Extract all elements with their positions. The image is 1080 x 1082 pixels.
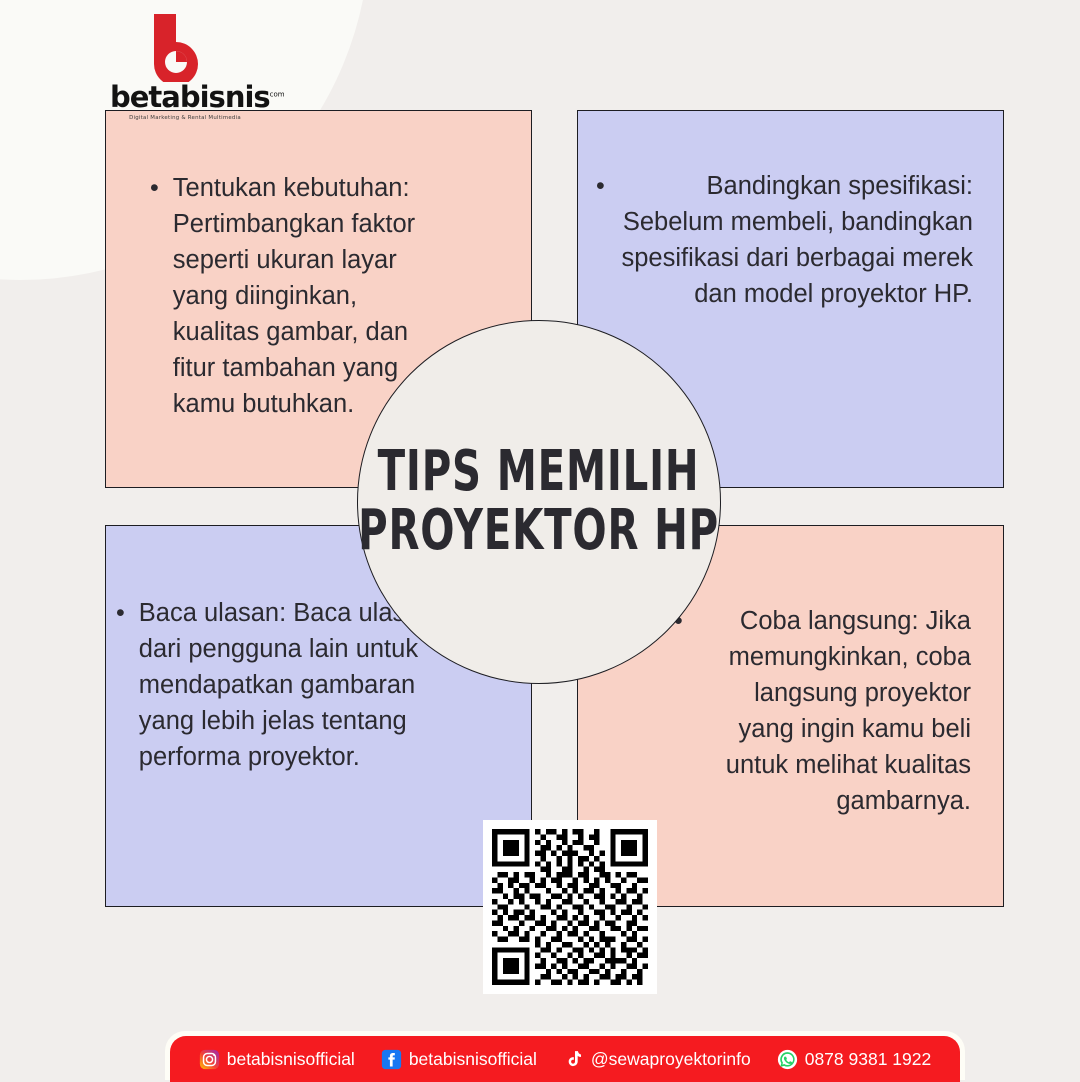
page-title-line-2: PROYEKTOR HP bbox=[359, 502, 720, 561]
brand-logo: betabisniscom Digital Marketing & Rental… bbox=[110, 12, 260, 121]
bullet-icon: • bbox=[150, 171, 159, 423]
tiktok-icon bbox=[563, 1049, 584, 1070]
social-facebook[interactable]: betabisnisofficial bbox=[381, 1049, 537, 1070]
facebook-icon bbox=[381, 1049, 402, 1070]
instagram-handle: betabisnisofficial bbox=[227, 1049, 355, 1070]
whatsapp-number: 0878 9381 1922 bbox=[805, 1049, 932, 1070]
tiktok-handle: @sewaproyektorinfo bbox=[591, 1049, 751, 1070]
page-title: TIPS MEMILIH PROYEKTOR HP bbox=[359, 443, 720, 561]
instagram-icon bbox=[199, 1049, 220, 1070]
bullet-icon: • bbox=[674, 604, 683, 820]
social-instagram[interactable]: betabisnisofficial bbox=[199, 1049, 355, 1070]
social-footer-bar: betabisnisofficial betabisnisofficial @s… bbox=[170, 1036, 960, 1082]
logo-tm: com bbox=[270, 90, 285, 98]
social-whatsapp[interactable]: 0878 9381 1922 bbox=[777, 1049, 932, 1070]
center-title-circle: TIPS MEMILIH PROYEKTOR HP bbox=[357, 320, 721, 684]
tip-bullet-row: • Bandingkan spesifikasi: Sebelum membel… bbox=[578, 111, 1003, 313]
tip-text-bandingkan-spesifikasi: Bandingkan spesifikasi: Sebelum membeli,… bbox=[619, 169, 973, 313]
bullet-icon: • bbox=[596, 169, 605, 313]
facebook-handle: betabisnisofficial bbox=[409, 1049, 537, 1070]
page-title-line-1: TIPS MEMILIH bbox=[359, 443, 720, 502]
betabisnis-b-icon bbox=[142, 12, 228, 82]
tip-text-coba-langsung: Coba langsung: Jika memungkinkan, coba l… bbox=[697, 604, 971, 820]
qr-code[interactable] bbox=[483, 820, 657, 994]
logo-tagline: Digital Marketing & Rental Multimedia bbox=[110, 115, 260, 121]
social-tiktok[interactable]: @sewaproyektorinfo bbox=[563, 1049, 751, 1070]
tip-text-tentukan-kebutuhan: Tentukan kebutuhan: Pertimbangkan faktor… bbox=[173, 171, 435, 423]
bullet-icon: • bbox=[116, 596, 125, 776]
whatsapp-icon bbox=[777, 1049, 798, 1070]
logo-wordmark: betabisniscom bbox=[110, 83, 260, 112]
